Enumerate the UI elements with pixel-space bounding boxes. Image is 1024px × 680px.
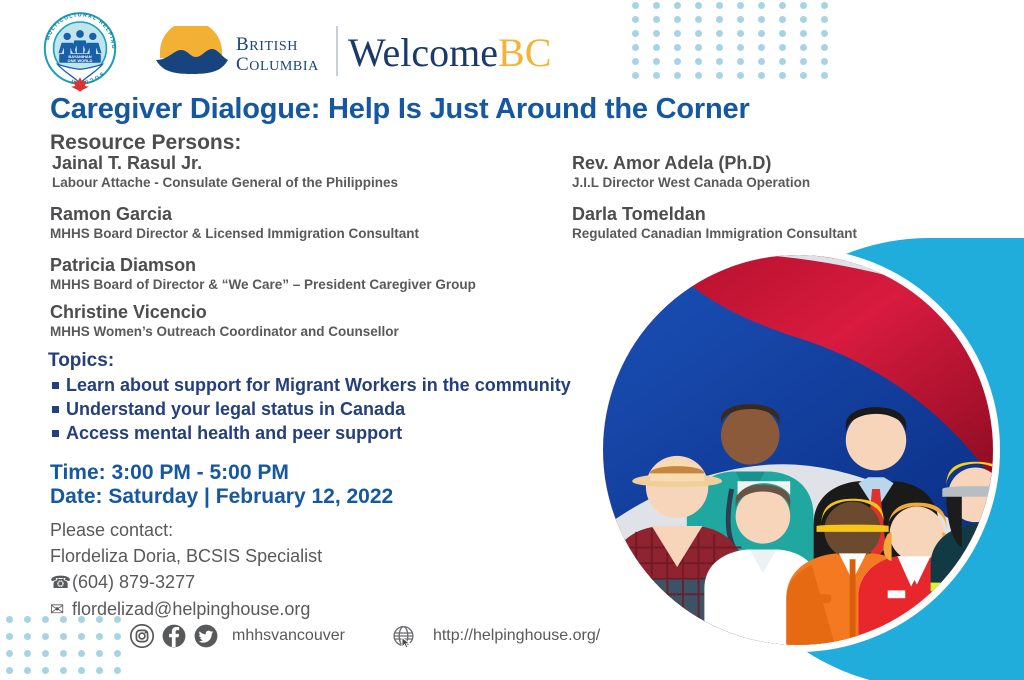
- resource-person: Rev. Amor Adela (Ph.D) J.I.L Director We…: [572, 153, 810, 191]
- contact-phone-line: ☎(604) 879-3277: [50, 569, 322, 596]
- resource-person-name: Rev. Amor Adela (Ph.D): [572, 153, 810, 174]
- resource-person-role: MHHS Board of Director & “We Care” – Pre…: [50, 276, 476, 293]
- contact-block: Please contact: Flordeliza Doria, BCSIS …: [50, 517, 322, 623]
- resource-person-role: Labour Attache - Consulate General of th…: [52, 174, 398, 191]
- website-group[interactable]: http://helpinghouse.org/: [391, 624, 600, 648]
- resource-person: Jainal T. Rasul Jr. Labour Attache - Con…: [52, 153, 398, 191]
- mhhs-logo-graphic: MULTICULTURAL HELPING HOUSE SOCIETY BAYA…: [40, 8, 120, 92]
- contact-email-line: ✉flordelizad@helpinghouse.org: [50, 596, 322, 623]
- phone-icon: ☎: [50, 570, 72, 596]
- logo-divider: [336, 26, 338, 76]
- instagram-icon[interactable]: [130, 624, 154, 648]
- bullet-icon: [52, 382, 59, 389]
- svg-text:BRITISH: BRITISH: [236, 34, 298, 55]
- contact-intro: Please contact:: [50, 517, 322, 543]
- topics-heading: Topics:: [48, 350, 114, 372]
- bullet-icon: [52, 430, 59, 437]
- resource-person-name: Ramon Garcia: [50, 204, 419, 225]
- header-logo-bar: MULTICULTURAL HELPING HOUSE SOCIETY BAYA…: [0, 0, 620, 92]
- contact-person: Flordeliza Doria, BCSIS Specialist: [50, 543, 322, 569]
- topic-text: Access mental health and peer support: [66, 423, 402, 443]
- topic-item: Understand your legal status in Canada: [52, 397, 571, 421]
- topic-text: Understand your legal status in Canada: [66, 399, 405, 419]
- british-columbia-logo: BRITISH COLUMBIA: [148, 26, 330, 78]
- bc-logo-graphic: BRITISH COLUMBIA: [148, 26, 330, 78]
- poster-canvas: MULTICULTURAL HELPING HOUSE SOCIETY BAYA…: [0, 0, 1024, 680]
- bullet-icon: [52, 406, 59, 413]
- contact-email[interactable]: flordelizad@helpinghouse.org: [72, 599, 310, 619]
- svg-text:ONE WORLD: ONE WORLD: [68, 58, 93, 63]
- resource-persons-heading: Resource Persons:: [50, 131, 241, 155]
- page-title: Caregiver Dialogue: Help Is Just Around …: [50, 93, 750, 126]
- topic-text: Learn about support for Migrant Workers …: [66, 375, 571, 395]
- welcomebc-initials: BC: [498, 30, 551, 75]
- event-date: Date: Saturday | February 12, 2022: [50, 485, 393, 509]
- resource-person: Patricia Diamson MHHS Board of Director …: [50, 255, 476, 293]
- topics-list: Learn about support for Migrant Workers …: [52, 373, 571, 445]
- website-url[interactable]: http://helpinghouse.org/: [433, 627, 600, 645]
- contact-phone: (604) 879-3277: [72, 572, 195, 592]
- topic-item: Access mental health and peer support: [52, 421, 571, 445]
- welcomebc-word: Welcome: [348, 30, 498, 75]
- globe-cursor-icon: [391, 624, 415, 648]
- svg-text:COLUMBIA: COLUMBIA: [236, 54, 319, 75]
- welcomebc-logo: WelcomeBC: [348, 30, 551, 76]
- resource-person: Ramon Garcia MHHS Board Director & Licen…: [50, 204, 419, 242]
- envelope-icon: ✉: [50, 597, 72, 623]
- event-time: Time: 3:00 PM - 5:00 PM: [50, 461, 289, 485]
- topic-item: Learn about support for Migrant Workers …: [52, 373, 571, 397]
- resource-person: Darla Tomeldan Regulated Canadian Immigr…: [572, 204, 857, 242]
- resource-person-role: MHHS Board Director & Licensed Immigrati…: [50, 225, 419, 242]
- resource-person-role: Regulated Canadian Immigration Consultan…: [572, 225, 857, 242]
- resource-person-name: Patricia Diamson: [50, 255, 476, 276]
- facebook-icon[interactable]: [162, 624, 186, 648]
- mhhs-logo: MULTICULTURAL HELPING HOUSE SOCIETY BAYA…: [40, 8, 120, 92]
- resource-person-name: Jainal T. Rasul Jr.: [52, 153, 398, 174]
- footer-social-bar: mhhsvancouver http://helpinghouse.org/: [130, 624, 600, 648]
- resource-person-role: MHHS Women’s Outreach Coordinator and Co…: [50, 323, 399, 340]
- poster-content: Caregiver Dialogue: Help Is Just Around …: [0, 0, 1000, 680]
- social-handle: mhhsvancouver: [232, 627, 345, 645]
- resource-person-role: J.I.L Director West Canada Operation: [572, 174, 810, 191]
- twitter-icon[interactable]: [194, 624, 218, 648]
- resource-person: Christine Vicencio MHHS Women’s Outreach…: [50, 302, 399, 340]
- resource-person-name: Christine Vicencio: [50, 302, 399, 323]
- resource-person-name: Darla Tomeldan: [572, 204, 857, 225]
